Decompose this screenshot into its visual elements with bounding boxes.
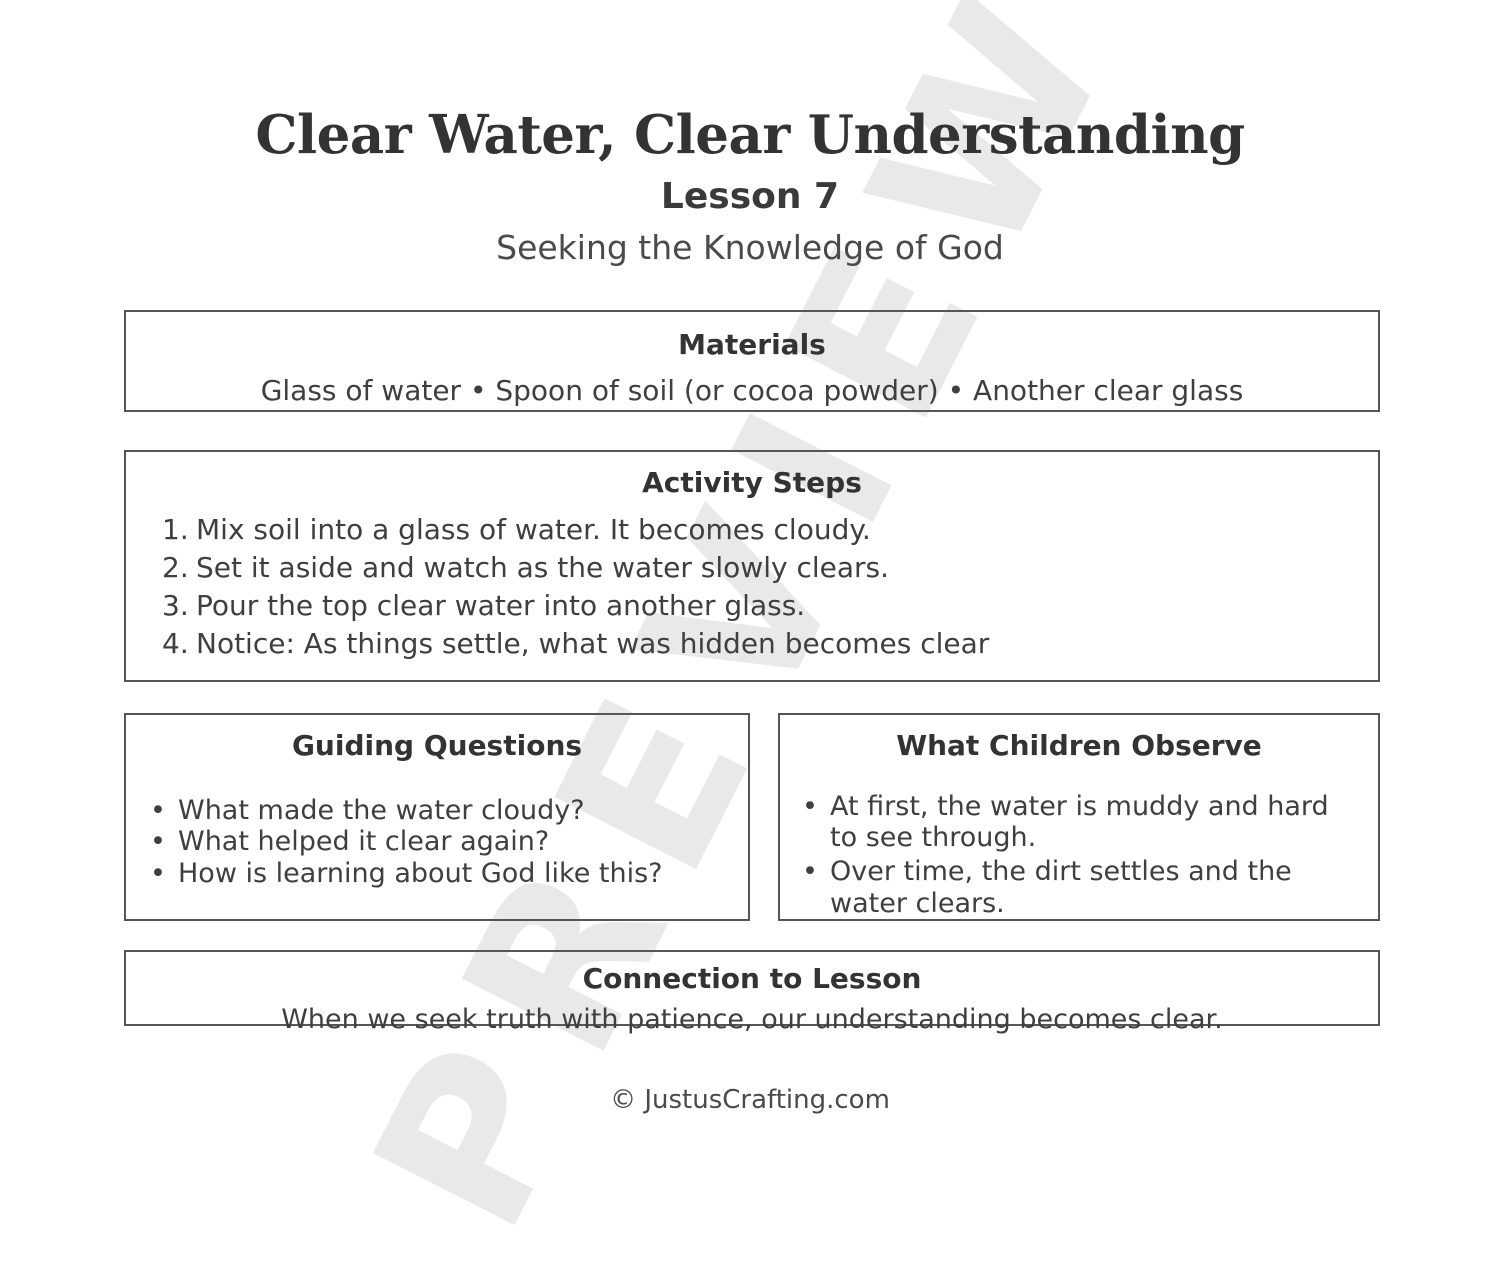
bullet-icon: • <box>150 795 178 827</box>
step-text: Notice: As things settle, what was hidde… <box>196 630 989 658</box>
observation-text: At first, the water is muddy and hard to… <box>830 791 1362 855</box>
list-item: • How is learning about God like this? <box>150 858 748 890</box>
step-number: 1. <box>162 516 196 544</box>
step-number: 2. <box>162 554 196 582</box>
children-observe-heading: What Children Observe <box>780 729 1378 763</box>
connection-to-lesson-section: Connection to Lesson When we seek truth … <box>124 950 1380 1026</box>
children-observe-section: What Children Observe • At first, the wa… <box>778 713 1380 921</box>
list-item: • What helped it clear again? <box>150 826 748 858</box>
worksheet-page: Clear Water, Clear Understanding Lesson … <box>0 0 1500 1200</box>
guiding-questions-section: Guiding Questions • What made the water … <box>124 713 750 921</box>
bullet-icon: • <box>802 856 830 888</box>
step-number: 4. <box>162 630 196 658</box>
page-header: Clear Water, Clear Understanding Lesson … <box>0 0 1500 268</box>
activity-steps-heading: Activity Steps <box>126 466 1378 500</box>
materials-list-line: Glass of water • Spoon of soil (or cocoa… <box>126 373 1378 410</box>
page-subtitle: Seeking the Knowledge of God <box>0 227 1500 268</box>
lesson-label: Lesson 7 <box>0 174 1500 219</box>
question-text: How is learning about God like this? <box>178 858 662 890</box>
connection-text: When we seek truth with patience, our un… <box>126 1002 1378 1038</box>
activity-steps-list: 1. Mix soil into a glass of water. It be… <box>126 516 1378 658</box>
guiding-questions-list: • What made the water cloudy? • What hel… <box>126 795 748 891</box>
bullet-icon: • <box>150 826 178 858</box>
list-item: • Over time, the dirt settles and the wa… <box>802 856 1362 920</box>
page-title: Clear Water, Clear Understanding <box>0 108 1500 164</box>
materials-section: Materials Glass of water • Spoon of soil… <box>124 310 1380 412</box>
step-number: 3. <box>162 592 196 620</box>
activity-steps-section: Activity Steps 1. Mix soil into a glass … <box>124 450 1380 682</box>
bullet-icon: • <box>802 791 830 823</box>
step-text: Set it aside and watch as the water slow… <box>196 554 889 582</box>
footer-credit: © JustusCrafting.com <box>0 1085 1500 1115</box>
list-item: 4. Notice: As things settle, what was hi… <box>162 630 1378 658</box>
question-text: What made the water cloudy? <box>178 795 585 827</box>
list-item: 1. Mix soil into a glass of water. It be… <box>162 516 1378 544</box>
guiding-questions-heading: Guiding Questions <box>126 729 748 763</box>
connection-heading: Connection to Lesson <box>126 962 1378 996</box>
step-text: Mix soil into a glass of water. It becom… <box>196 516 871 544</box>
list-item: • What made the water cloudy? <box>150 795 748 827</box>
materials-heading: Materials <box>126 328 1378 362</box>
list-item: • At first, the water is muddy and hard … <box>802 791 1362 855</box>
list-item: 2. Set it aside and watch as the water s… <box>162 554 1378 582</box>
question-text: What helped it clear again? <box>178 826 549 858</box>
bullet-icon: • <box>150 858 178 890</box>
observation-text: Over time, the dirt settles and the wate… <box>830 856 1362 920</box>
children-observe-list: • At first, the water is muddy and hard … <box>780 791 1378 920</box>
step-text: Pour the top clear water into another gl… <box>196 592 805 620</box>
list-item: 3. Pour the top clear water into another… <box>162 592 1378 620</box>
